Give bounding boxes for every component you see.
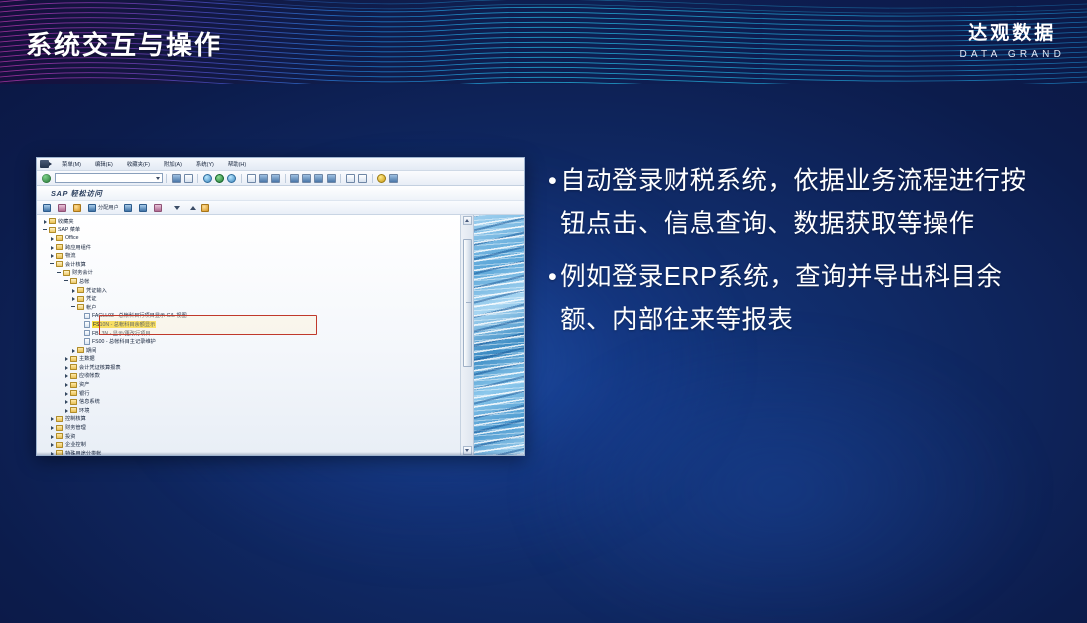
- sap-tree-node[interactable]: Office: [41, 234, 460, 243]
- folder-icon: [70, 278, 77, 284]
- leaf-node-icon[interactable]: [78, 313, 83, 318]
- sap-tree-node-label: 凭证输入: [86, 287, 107, 294]
- sap-tree-node-label: FS00 - 总帐科目主记录维护: [92, 338, 156, 345]
- sap-tree-node[interactable]: FBL3N - 显示/更改行项目: [41, 329, 460, 338]
- toolbar-separator: [197, 174, 198, 183]
- chevron-down-icon[interactable]: [156, 177, 160, 180]
- sap-tree-node-label: 财务会计: [72, 269, 93, 276]
- sap-tree-node[interactable]: 投资: [41, 432, 460, 441]
- folder-icon: [77, 347, 84, 353]
- expand-node-icon[interactable]: [71, 296, 76, 301]
- sap-application-title-bar: SAP 轻松访问: [37, 186, 524, 201]
- leaf-node-icon[interactable]: [78, 331, 83, 336]
- favorites-icon: [73, 204, 81, 212]
- folder-icon: [49, 227, 56, 233]
- sap-tree-node[interactable]: 总帐: [41, 277, 460, 286]
- sap-tree-node-label: 银行: [79, 390, 89, 397]
- first-page-icon[interactable]: [290, 174, 299, 183]
- brand-logo-en: DATA GRAND: [959, 49, 1065, 60]
- sap-tree-node-label: 跨应用组件: [65, 244, 91, 251]
- sap-system-menu-icon[interactable]: [40, 160, 49, 168]
- sap-tree-node-label: 环境: [79, 407, 89, 414]
- collapse-node-icon[interactable]: [57, 270, 62, 275]
- sap-tree-node-label: FBL3N - 显示/更改行项目: [92, 330, 151, 337]
- favorites-button[interactable]: [73, 204, 83, 212]
- expand-node-icon[interactable]: [71, 288, 76, 293]
- sap-tree-node-label: 帐户: [86, 304, 96, 311]
- collapse-all-button[interactable]: [154, 204, 164, 212]
- create-session-icon[interactable]: [346, 174, 355, 183]
- toolbar-separator: [241, 174, 242, 183]
- leaf-node-icon[interactable]: [78, 322, 83, 327]
- folder-icon: [70, 382, 77, 388]
- sap-menu-item-5[interactable]: 帮助(H): [221, 160, 253, 168]
- sap-tree-node-label: 会计核算: [65, 261, 86, 268]
- collapse-node-icon[interactable]: [71, 305, 76, 310]
- sap-water-background-image: [473, 215, 524, 456]
- toolbar-separator: [340, 174, 341, 183]
- expand-all-button[interactable]: [139, 204, 149, 212]
- expand-node-icon[interactable]: [43, 219, 48, 224]
- sap-standard-toolbar: [37, 171, 524, 186]
- folder-icon: [77, 287, 84, 293]
- sap-tree-node-label: 投资: [65, 433, 75, 440]
- folder-icon: [56, 261, 63, 267]
- sap-tree-node[interactable]: 应收帐款: [41, 372, 460, 381]
- sap-tree-node-label: FAGLL03 - 总帐科目行项目显示 G/L 视图: [92, 312, 187, 319]
- sap-tree-node[interactable]: FS00 - 总帐科目主记录维护: [41, 337, 460, 346]
- bullet-item-2: • 例如登录ERP系统，查询并导出科目余额、内部往来等报表: [548, 256, 1048, 342]
- sap-tree-node[interactable]: 跨应用组件: [41, 243, 460, 252]
- brand-logo-cn: 达观数据: [959, 24, 1065, 45]
- down-arrow-icon[interactable]: [174, 206, 180, 210]
- folder-icon: [70, 373, 77, 379]
- folder-icon: [70, 356, 77, 362]
- up-arrow-icon[interactable]: [190, 206, 196, 210]
- scroll-up-icon[interactable]: [463, 216, 472, 225]
- expand-node-icon[interactable]: [64, 382, 69, 387]
- sap-tree-node-label: 主数据: [79, 355, 95, 362]
- sap-tree-node-label: 特殊用途分类帐: [65, 450, 101, 456]
- vertical-scrollbar[interactable]: [460, 215, 473, 456]
- transaction-doc-icon: [84, 330, 90, 337]
- collapse-node-icon[interactable]: [50, 262, 55, 267]
- folder-icon: [56, 425, 63, 431]
- sap-tree-node[interactable]: 会计凭证核算报表: [41, 363, 460, 372]
- other-menu-icon: [43, 204, 51, 212]
- documentation-button[interactable]: [124, 204, 134, 212]
- brand-logo: 达观数据 DATA GRAND: [959, 24, 1065, 60]
- collapse-icon: [154, 204, 162, 212]
- sap-tree-node[interactable]: FS10N - 总帐科目余额显示: [41, 320, 460, 329]
- folder-icon: [70, 364, 77, 370]
- sap-tree-node[interactable]: 帐户: [41, 303, 460, 312]
- sap-menu-item-4[interactable]: 系统(Y): [189, 160, 221, 168]
- assign-users-label: 分配用户: [98, 204, 119, 211]
- sap-tree-node[interactable]: 银行: [41, 389, 460, 398]
- create-shortcut-icon[interactable]: [358, 174, 367, 183]
- expand-node-icon[interactable]: [64, 391, 69, 396]
- assign-users-icon: [88, 204, 96, 212]
- back-icon[interactable]: [172, 174, 181, 183]
- transaction-doc-icon: [84, 313, 90, 320]
- folder-icon: [56, 433, 63, 439]
- sap-tree-node[interactable]: 特殊用途分类帐: [41, 449, 460, 456]
- background-glow-secondary: [520, 330, 1040, 623]
- sap-tree-node-label: Office: [65, 235, 78, 241]
- toolbar-separator: [285, 174, 286, 183]
- sap-tree-node-label: 会计凭证核算报表: [79, 364, 121, 371]
- transaction-doc-icon: [84, 321, 90, 328]
- sap-tree-node-label: FS10N - 总帐科目余额显示: [92, 321, 156, 328]
- page-title: 系统交互与操作: [26, 25, 222, 62]
- sap-tree-node[interactable]: 期间: [41, 346, 460, 355]
- settings-button[interactable]: [201, 204, 211, 212]
- folder-icon: [70, 407, 77, 413]
- folder-icon: [70, 390, 77, 396]
- customize-local-layout-icon[interactable]: [389, 174, 398, 183]
- toolbar-separator: [372, 174, 373, 183]
- sap-menu-item-2[interactable]: 收藏夹(F): [120, 160, 157, 168]
- previous-page-icon[interactable]: [302, 174, 311, 183]
- sap-tree-node[interactable]: 财务管理: [41, 423, 460, 432]
- scrollbar-thumb[interactable]: [463, 239, 472, 367]
- sap-tree-node[interactable]: 主数据: [41, 355, 460, 364]
- sap-tree-node[interactable]: 信息系统: [41, 397, 460, 406]
- transaction-doc-icon: [84, 338, 90, 345]
- sap-tree-node-label: 信息系统: [79, 398, 100, 405]
- sap-tree-node[interactable]: 资产: [41, 380, 460, 389]
- sap-easy-access-tree[interactable]: 收藏夹SAP 菜单Office跨应用组件物流会计核算财务会计总帐凭证输入凭证帐户…: [37, 215, 460, 456]
- sap-tree-node[interactable]: 凭证输入: [41, 286, 460, 295]
- expand-node-icon[interactable]: [71, 348, 76, 353]
- assign-users-button[interactable]: 分配用户: [88, 204, 119, 212]
- folder-icon: [70, 399, 77, 405]
- expand-node-icon[interactable]: [50, 442, 55, 447]
- next-page-icon[interactable]: [314, 174, 323, 183]
- print-icon[interactable]: [247, 174, 256, 183]
- sap-tree-node[interactable]: 控制核算: [41, 415, 460, 424]
- sap-tree-node[interactable]: FAGLL03 - 总帐科目行项目显示 G/L 视图: [41, 312, 460, 321]
- sap-tree-node-label: 期间: [86, 347, 96, 354]
- sap-application-title: SAP 轻松访问: [51, 188, 102, 199]
- bullet-list: • 自动登录财税系统，依据业务流程进行按钮点击、信息查询、数据获取等操作 • 例…: [548, 160, 1048, 352]
- sap-gui-window-screenshot: 菜单(M) 编辑(E) 收藏夹(F) 附加(A) 系统(Y) 帮助(H): [36, 157, 525, 456]
- sap-command-field[interactable]: [55, 173, 163, 183]
- expand-node-icon[interactable]: [50, 425, 55, 430]
- expand-node-icon[interactable]: [50, 434, 55, 439]
- settings-icon: [201, 204, 209, 212]
- expand-node-icon[interactable]: [50, 416, 55, 421]
- folder-icon: [77, 304, 84, 310]
- sap-menu-item-0[interactable]: 菜单(M): [55, 160, 88, 168]
- enter-icon[interactable]: [42, 174, 51, 183]
- expand-node-icon[interactable]: [50, 253, 55, 258]
- bullet-text-1: 自动登录财税系统，依据业务流程进行按钮点击、信息查询、数据获取等操作: [560, 160, 1048, 246]
- expand-node-icon[interactable]: [64, 408, 69, 413]
- end-session-icon[interactable]: [227, 174, 236, 183]
- folder-icon: [56, 253, 63, 259]
- leaf-node-icon[interactable]: [78, 339, 83, 344]
- expand-node-icon[interactable]: [50, 245, 55, 250]
- collapse-node-icon[interactable]: [43, 227, 48, 232]
- expand-node-icon[interactable]: [64, 365, 69, 370]
- expand-node-icon[interactable]: [64, 399, 69, 404]
- sap-tree-node-label: 财务管理: [65, 424, 86, 431]
- folder-icon: [63, 270, 70, 276]
- cancel-icon[interactable]: [215, 174, 224, 183]
- expand-node-icon[interactable]: [50, 236, 55, 241]
- sap-tree-node-label: 控制核算: [65, 415, 86, 422]
- folder-icon: [56, 450, 63, 456]
- last-page-icon[interactable]: [327, 174, 336, 183]
- bullet-marker-icon: •: [548, 256, 557, 299]
- sap-tree-node-label: 物流: [65, 252, 75, 259]
- sap-tree-node[interactable]: 会计核算: [41, 260, 460, 269]
- sap-menu-item-3[interactable]: 附加(A): [157, 160, 189, 168]
- folder-icon: [56, 442, 63, 448]
- scroll-down-icon[interactable]: [463, 446, 472, 455]
- find-next-icon[interactable]: [271, 174, 280, 183]
- sap-tree-node[interactable]: SAP 菜单: [41, 226, 460, 235]
- sap-tree-node[interactable]: 收藏夹: [41, 217, 460, 226]
- sap-tree-node-label: SAP 菜单: [58, 226, 80, 233]
- expand-node-icon[interactable]: [64, 373, 69, 378]
- create-role-icon: [58, 204, 66, 212]
- sap-tree-node-label: 资产: [79, 381, 89, 388]
- sap-tree-node-label: 凭证: [86, 295, 96, 302]
- sap-tree-node[interactable]: 财务会计: [41, 269, 460, 278]
- bullet-item-1: • 自动登录财税系统，依据业务流程进行按钮点击、信息查询、数据获取等操作: [548, 160, 1048, 246]
- find-icon[interactable]: [259, 174, 268, 183]
- slide-root: 系统交互与操作 达观数据 DATA GRAND • 自动登录财税系统，依据业务流…: [0, 0, 1087, 623]
- exit-icon[interactable]: [203, 174, 212, 183]
- sap-tree-node-label: 企业控制: [65, 441, 86, 448]
- folder-icon: [56, 416, 63, 422]
- sap-tree-node[interactable]: 物流: [41, 251, 460, 260]
- other-menu-button[interactable]: [43, 204, 53, 212]
- sap-tree-node[interactable]: 凭证: [41, 294, 460, 303]
- sap-menu-item-1[interactable]: 编辑(E): [88, 160, 120, 168]
- collapse-node-icon[interactable]: [64, 279, 69, 284]
- save-icon[interactable]: [184, 174, 193, 183]
- expand-node-icon[interactable]: [64, 356, 69, 361]
- create-role-button[interactable]: [58, 204, 68, 212]
- folder-icon: [49, 218, 56, 224]
- folder-icon: [77, 296, 84, 302]
- sap-menu-bar: 菜单(M) 编辑(E) 收藏夹(F) 附加(A) 系统(Y) 帮助(H): [37, 158, 524, 171]
- bullet-text-2: 例如登录ERP系统，查询并导出科目余额、内部往来等报表: [560, 256, 1048, 342]
- sap-tree-node-label: 总帐: [79, 278, 89, 285]
- toolbar-separator: [166, 174, 167, 183]
- sap-tree-node[interactable]: 环境: [41, 406, 460, 415]
- folder-icon: [56, 235, 63, 241]
- sap-tree-node-label: 应收帐款: [79, 372, 100, 379]
- sap-window-body: 收藏夹SAP 菜单Office跨应用组件物流会计核算财务会计总帐凭证输入凭证帐户…: [37, 215, 524, 456]
- sap-tree-node[interactable]: 企业控制: [41, 440, 460, 449]
- expand-icon: [139, 204, 147, 212]
- sap-application-toolbar: 分配用户: [37, 201, 524, 215]
- folder-icon: [56, 244, 63, 250]
- help-icon[interactable]: [377, 174, 386, 183]
- expand-node-icon[interactable]: [50, 451, 55, 456]
- bullet-marker-icon: •: [548, 160, 557, 203]
- sap-tree-node-label: 收藏夹: [58, 218, 74, 225]
- documentation-icon: [124, 204, 132, 212]
